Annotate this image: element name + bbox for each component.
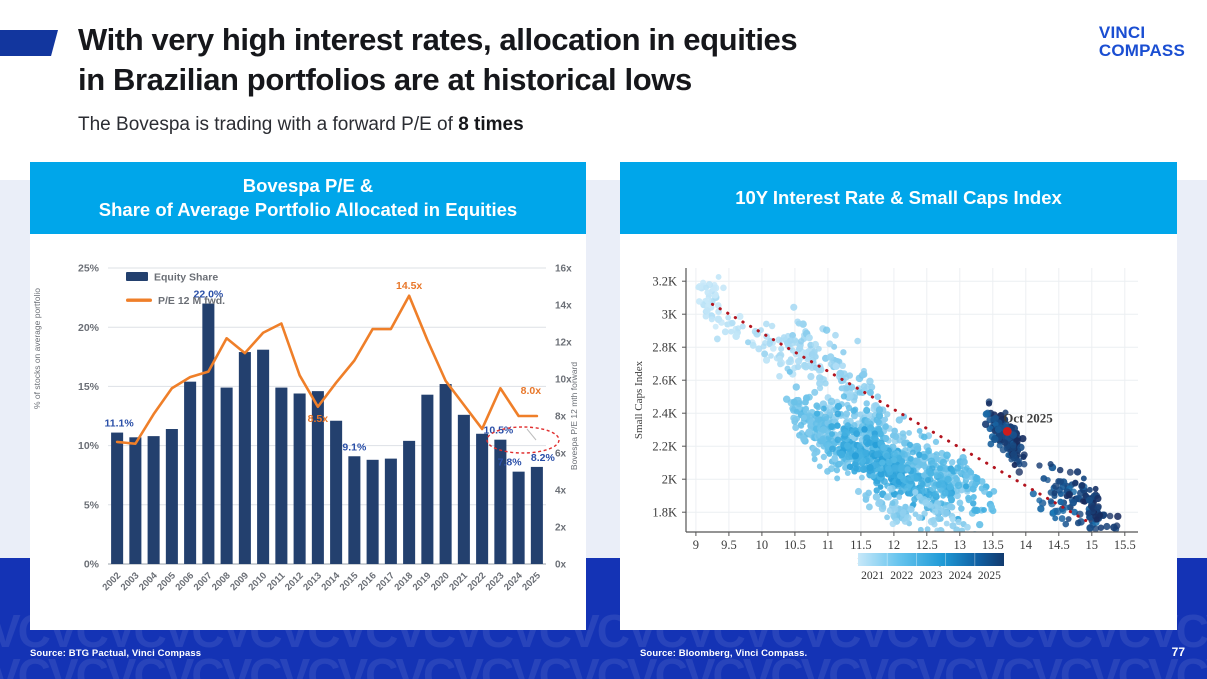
y2-tick-label: 8x (555, 412, 567, 423)
left-card-title-line-1: Bovespa P/E & (99, 174, 517, 198)
scatter-y-axis-labels: 1.8K2K2.2K2.4K2.6K2.8K3K3.2K (652, 274, 677, 519)
scatter-point (732, 332, 740, 340)
scatter-point (922, 499, 929, 506)
scatter-point (893, 433, 900, 440)
scatter-point (844, 442, 851, 449)
x-tick-label: 11 (822, 538, 834, 552)
x-tick-label: 12.5 (916, 538, 938, 552)
scatter-point (955, 482, 962, 489)
scatter-point (890, 500, 896, 506)
colorbar-tick-label: 2025 (978, 570, 1001, 582)
scatter-point (997, 442, 1003, 448)
scatter-point (900, 430, 906, 436)
y-tick-label: 25% (78, 263, 100, 275)
scatter-point (925, 477, 931, 483)
scatter-point (874, 393, 881, 400)
scatter-point (718, 319, 725, 326)
left-card-body: % of stocks on average portfolio 0%5%10%… (30, 234, 586, 630)
scatter-point (907, 506, 914, 513)
y2-tick-label: 4x (555, 486, 567, 497)
scatter-point (793, 383, 800, 390)
y2-tick-label: 0x (555, 560, 567, 571)
bar (403, 441, 415, 564)
scatter-point (941, 489, 948, 496)
scatter-point (704, 289, 710, 295)
data-point-label: 9.1% (342, 441, 367, 453)
scatter-point (880, 444, 887, 451)
scatter-point (1075, 520, 1082, 527)
scatter-point (965, 495, 971, 501)
x-tick-label: 2009 (228, 570, 251, 593)
oct-2025-label: Oct 2025 (1003, 410, 1053, 425)
x-tick-label: 2002 (101, 570, 124, 593)
scatter-point (790, 304, 797, 311)
scatter-point (953, 476, 960, 483)
page-title: With very high interest rates, allocatio… (78, 20, 1038, 99)
scatter-point (800, 436, 807, 443)
scatter-point (792, 337, 798, 343)
bar (531, 467, 543, 564)
x-tick-label: 13 (954, 538, 967, 552)
scatter-point (720, 285, 727, 292)
scatter-point (879, 505, 887, 513)
scatter-point (796, 321, 802, 327)
scatter-point (1072, 480, 1078, 486)
scatter-point (841, 393, 847, 399)
x-tick-label: 2017 (374, 570, 397, 593)
scatter-point (981, 488, 988, 495)
scatter-point (964, 524, 971, 531)
scatter-point (840, 370, 847, 377)
data-point-label: 7.8% (498, 457, 523, 469)
y2-tick-label: 14x (555, 301, 572, 312)
scatter-point (838, 451, 845, 458)
scatter-point (954, 464, 961, 471)
scatter-point (917, 428, 923, 434)
left-chart-source: Source: BTG Pactual, Vinci Compass (30, 648, 201, 659)
x-tick-label: 2024 (502, 570, 525, 593)
scatter-point (863, 407, 869, 413)
scatter-point (809, 365, 815, 371)
colorbar-tick-label: 2022 (890, 570, 913, 582)
scatter-point (1114, 513, 1121, 520)
scatter-point (933, 439, 939, 445)
scatter-point (1067, 469, 1074, 476)
y-tick-label: 20% (78, 322, 100, 334)
scatter-point (1087, 487, 1093, 493)
scatter-point (855, 488, 862, 495)
scatter-point (886, 459, 893, 466)
scatter-point (805, 429, 812, 436)
scatter-point (714, 336, 721, 343)
scatter-point (888, 485, 895, 492)
accent-parallelogram (0, 30, 58, 56)
right-chart-source: Source: Bloomberg, Vinci Compass. (640, 648, 807, 659)
scatter-point (864, 418, 871, 425)
scatter-point (787, 369, 793, 375)
scatter-point (819, 436, 826, 443)
right-card-title: 10Y Interest Rate & Small Caps Index (735, 186, 1062, 210)
bar (148, 436, 160, 564)
scatter-point (695, 284, 701, 290)
scatter-point (976, 521, 983, 528)
x-tick-label: 9 (693, 538, 699, 552)
scatter-point (1030, 490, 1037, 497)
scatter-point (770, 345, 777, 352)
y-tick-label: 2.6K (652, 373, 677, 387)
data-point-label: 11.1% (105, 418, 135, 430)
colorbar-tick-label: 2024 (949, 570, 972, 582)
scatter-point (716, 274, 722, 280)
data-point-label: 8.5x (308, 413, 329, 425)
x-tick-label: 2010 (247, 570, 270, 593)
x-tick-label: 2025 (520, 570, 543, 593)
scatter-point (905, 466, 911, 472)
scatter-point (1010, 451, 1017, 458)
scatter-point (839, 362, 846, 369)
scatter-point (878, 466, 884, 472)
scatter-point (884, 411, 890, 417)
scatter-point (947, 503, 953, 509)
scatter-point (1069, 499, 1076, 506)
scatter-point (815, 416, 822, 423)
scatter-point (1036, 462, 1042, 468)
scatter-point (988, 504, 995, 511)
scatter-point (910, 450, 916, 456)
page-subtitle-prefix: The Bovespa is trading with a forward P/… (78, 114, 458, 135)
scatter-point (853, 430, 860, 437)
scatter-point (803, 349, 809, 355)
scatter-point (902, 518, 909, 525)
y-tick-label: 10% (78, 440, 100, 452)
scatter-point (1054, 508, 1062, 516)
scatter-point (907, 474, 914, 481)
scatter-point (846, 392, 854, 400)
scatter-point (1066, 516, 1072, 522)
page-title-line-1: With very high interest rates, allocatio… (78, 20, 1038, 60)
scatter-point (1107, 513, 1114, 520)
left-card-title-line-2: Share of Average Portfolio Allocated in … (99, 198, 517, 222)
y-tick-label: 15% (78, 381, 100, 393)
scatter-point (807, 373, 814, 380)
bar (476, 434, 488, 564)
bar (458, 415, 470, 564)
slide: VCVCVCVCVCVCVCVCVCVCVCVCVCVCVCVCVCVCVCVC… (0, 0, 1207, 679)
page-number: 77 (1172, 645, 1185, 659)
scatter-point (1052, 515, 1058, 521)
scatter-point (769, 323, 775, 329)
scatter-point (1057, 499, 1063, 505)
scatter-point (1057, 478, 1064, 485)
scatter-point (891, 464, 898, 471)
scatter-point (876, 406, 883, 413)
scatter-point (1037, 505, 1044, 512)
scatter-point (817, 463, 823, 469)
scatter-point (865, 490, 872, 497)
scatter-point (986, 401, 992, 407)
scatter-point (940, 459, 947, 466)
scatter-point (884, 514, 890, 520)
scatter-point (859, 475, 865, 481)
scatter-point (958, 505, 964, 511)
scatter-point (1086, 524, 1094, 532)
scatter-point (861, 426, 868, 433)
y-tick-label: 5% (84, 499, 100, 511)
scatter-point (826, 409, 832, 415)
scatter-point (787, 358, 794, 365)
scatter-point (803, 394, 810, 401)
scatter-point (981, 507, 987, 513)
scatter-point (874, 487, 880, 493)
bar (221, 388, 233, 564)
scatter-point (1057, 467, 1063, 473)
scatter-point (806, 334, 813, 341)
legend-swatch-equity-share (126, 272, 148, 281)
scatter-point (1052, 490, 1058, 496)
scatter-point (811, 452, 817, 458)
colorbar-tick-label: 2023 (920, 570, 943, 582)
bar (239, 352, 251, 564)
scatter-point (833, 363, 840, 370)
scatter-point (750, 342, 757, 349)
y-tick-label: 3.2K (652, 274, 677, 288)
x-tick-label: 15.5 (1114, 538, 1136, 552)
scatter-point (834, 475, 840, 481)
scatter-point (874, 451, 881, 458)
scatter-point (932, 491, 939, 498)
scatter-point (857, 443, 863, 449)
scatter-point (968, 470, 974, 476)
y2-tick-label: 12x (555, 338, 572, 349)
scatter-point (884, 494, 890, 500)
x-tick-label: 2008 (210, 570, 233, 593)
scatter-point (854, 338, 861, 345)
scatter-point (1016, 461, 1022, 467)
scatter-point (1110, 524, 1117, 531)
scatter-point (761, 350, 768, 357)
legend-label-equity-share: Equity Share (154, 272, 218, 284)
scatter-point (777, 356, 783, 362)
scatter-point (811, 389, 818, 396)
scatter-point (1081, 476, 1087, 482)
y2-tick-label: 16x (555, 264, 572, 275)
legend-label-pe-line: P/E 12 M fwd. (158, 295, 225, 307)
scatter-point (814, 410, 820, 416)
scatter-point (791, 399, 798, 406)
colorbar-gradient (858, 553, 1004, 566)
scatter-point (1094, 517, 1100, 523)
y-tick-label: 2.4K (652, 406, 677, 420)
scatter-point (937, 465, 943, 471)
scatter-point (790, 415, 797, 422)
data-point-label: 14.5x (396, 280, 422, 292)
data-point-label: 8.2% (531, 452, 556, 464)
bar (202, 304, 214, 564)
page-subtitle: The Bovespa is trading with a forward P/… (78, 114, 524, 136)
scatter-point (866, 504, 873, 511)
scatter-point (1103, 523, 1110, 530)
scatter-point (926, 468, 933, 475)
scatter-point (857, 390, 863, 396)
scatter-point (823, 327, 830, 334)
scatter-chart: 1.8K2K2.2K2.4K2.6K2.8K3K3.2K 99.51010.51… (620, 234, 1177, 630)
y2-tick-label: 6x (555, 449, 567, 460)
x-tick-label: 10 (756, 538, 769, 552)
scatter-point (925, 526, 931, 532)
scatter-point (1093, 486, 1099, 492)
logo-line-2: COMPASS (1099, 42, 1185, 60)
scatter-point (1066, 492, 1072, 498)
scatter-point (1017, 444, 1025, 452)
right-card-body: 1.8K2K2.2K2.4K2.6K2.8K3K3.2K 99.51010.51… (620, 234, 1177, 630)
scatter-point (925, 447, 932, 454)
scatter-point (912, 489, 918, 495)
x-tick-label: 14.5 (1048, 538, 1070, 552)
scatter-point (970, 486, 977, 493)
scatter-point (897, 473, 904, 480)
scatter-point (829, 431, 835, 437)
scatter-point (722, 328, 729, 335)
scatter-point (884, 453, 891, 460)
x-tick-label: 2019 (411, 570, 434, 593)
scatter-point (913, 457, 919, 463)
scatter-point (821, 406, 827, 412)
bar (184, 382, 196, 564)
combo-chart-y-axis-labels: 0%5%10%15%20%25% (78, 263, 100, 571)
scatter-point (736, 313, 743, 320)
y-tick-label: 2.8K (652, 340, 677, 354)
bar (166, 429, 178, 564)
scatter-point (696, 298, 703, 305)
scatter-point (883, 435, 889, 441)
scatter-point (813, 402, 820, 409)
scatter-point (1074, 468, 1081, 475)
scatter-point (890, 521, 897, 528)
x-tick-label: 2021 (447, 570, 470, 593)
y-tick-label: 0% (84, 559, 100, 571)
scatter-point (873, 479, 880, 486)
scatter-point (986, 416, 993, 423)
scatter-point (907, 442, 913, 448)
scatter-point (865, 441, 871, 447)
y-tick-label: 2K (662, 472, 677, 486)
scatter-point (875, 419, 881, 425)
left-card-header: Bovespa P/E & Share of Average Portfolio… (30, 162, 586, 234)
scatter-point (937, 472, 944, 479)
x-tick-label: 2016 (356, 570, 379, 593)
scatter-point (840, 349, 846, 355)
scatter-point (794, 409, 800, 415)
scatter-point (1010, 442, 1017, 449)
scatter-point (838, 460, 844, 466)
scatter-point (795, 358, 802, 365)
combo-chart: 0%5%10%15%20%25% 0x2x4x6x8x10x12x14x16x … (30, 234, 586, 630)
scatter-point (870, 473, 876, 479)
scatter-point (995, 426, 1002, 433)
scatter-point (821, 454, 827, 460)
y-tick-label: 2.2K (652, 439, 677, 453)
combo-chart-x-axis-labels: 2002200320042005200620072008200920102011… (101, 570, 544, 593)
x-tick-label: 10.5 (784, 538, 806, 552)
scatter-point (763, 357, 770, 364)
scatter-point (891, 506, 898, 513)
x-tick-label: 2014 (320, 570, 343, 593)
scatter-y-axis-title: Small Caps Index (633, 360, 645, 439)
scatter-point (908, 456, 914, 462)
scatter-point (948, 496, 955, 503)
x-tick-label: 11.5 (850, 538, 871, 552)
vinci-compass-logo: VINCI COMPASS (1099, 24, 1185, 61)
scatter-colorbar-legend: 20212022202320242025 (858, 553, 1004, 582)
colorbar-tick-label: 2021 (861, 570, 884, 582)
scatter-point (828, 423, 835, 430)
scatter-x-axis-labels: 99.51010.51111.51212.51313.51414.51515.5 (693, 538, 1136, 552)
x-tick-label: 2015 (338, 570, 361, 593)
scatter-point (890, 513, 897, 520)
scatter-point (1040, 475, 1047, 482)
scatter-point (704, 297, 711, 304)
combo-chart-bars (111, 304, 543, 564)
bar (348, 456, 360, 564)
scatter-point (957, 499, 964, 506)
scatter-point (816, 346, 822, 352)
scatter-point (703, 307, 710, 314)
scatter-point (891, 428, 898, 435)
oct-2025-marker (1003, 427, 1012, 436)
scatter-point (792, 424, 799, 431)
scatter-point (1094, 495, 1101, 502)
bar (513, 472, 525, 564)
scatter-point (729, 320, 735, 326)
scatter-point (725, 315, 731, 321)
x-tick-label: 2011 (265, 570, 288, 593)
bar (421, 395, 433, 564)
scatter-point (803, 408, 809, 414)
scatter-point (921, 434, 928, 441)
bar (129, 437, 141, 564)
scatter-point (900, 509, 906, 515)
scatter-point (845, 470, 851, 476)
x-tick-label: 2007 (192, 570, 215, 593)
scatter-point (845, 422, 851, 428)
bar (440, 384, 452, 564)
scatter-point (867, 389, 874, 396)
scatter-point (1095, 505, 1102, 512)
x-tick-label: 2004 (137, 570, 160, 593)
scatter-point (950, 516, 956, 522)
scatter-point (1016, 468, 1023, 475)
x-tick-label: 2023 (484, 570, 507, 593)
scatter-point (898, 465, 906, 473)
x-tick-label: 2022 (466, 570, 489, 593)
bar (294, 394, 306, 565)
page-subtitle-strong: 8 times (458, 114, 523, 135)
scatter-point (776, 373, 783, 380)
scatter-point (971, 507, 978, 514)
x-tick-label: 2018 (393, 570, 416, 593)
scatter-point (947, 483, 954, 490)
scatter-point (832, 332, 839, 339)
scatter-point (831, 455, 837, 461)
y2-tick-label: 2x (555, 523, 567, 534)
scatter-point (1098, 524, 1105, 531)
scatter-point (835, 403, 842, 410)
left-chart-card: Bovespa P/E & Share of Average Portfolio… (30, 162, 586, 630)
scatter-point (896, 494, 902, 500)
x-tick-label: 2005 (155, 570, 178, 593)
scatter-point (866, 378, 873, 385)
bar (385, 459, 397, 564)
